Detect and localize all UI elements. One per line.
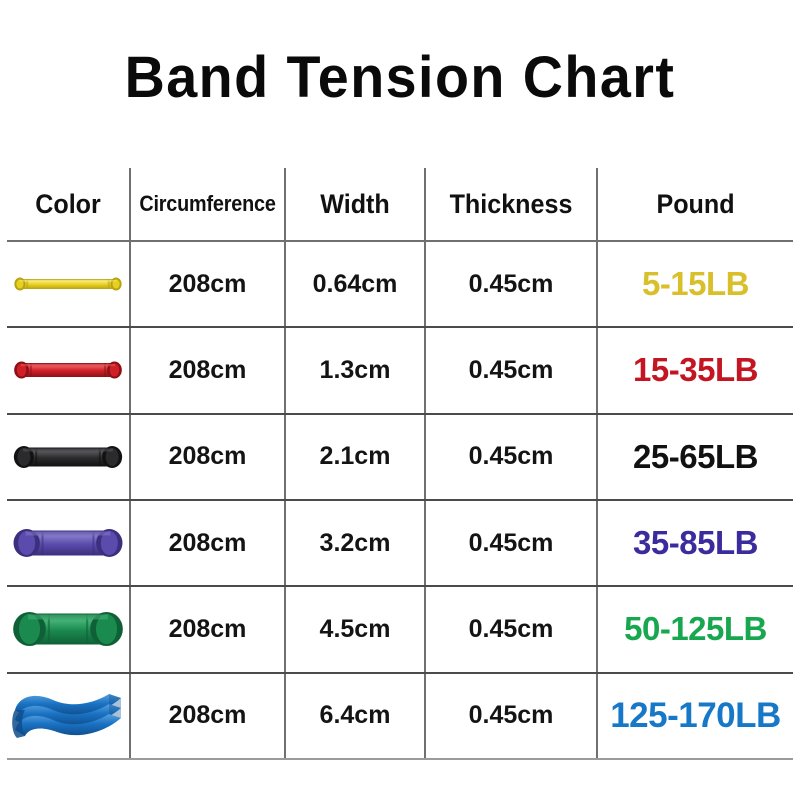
table-row: 208cm 0.64cm 0.45cm 5-15LB [7,241,793,327]
width-value: 0.64cm [286,270,424,299]
width-value: 3.2cm [286,529,424,558]
pound-value: 15-35LB [598,351,793,389]
band-image-wrapper [7,415,129,499]
thickness-cell: 0.45cm [425,414,597,500]
width-value: 4.5cm [286,615,424,644]
band-image-wrapper [7,242,129,326]
circumference-value: 208cm [131,270,284,299]
pound-cell: 35-85LB [597,500,793,586]
thickness-value: 0.45cm [426,356,596,385]
circumference-cell: 208cm [130,414,285,500]
pound-value: 50-125LB [598,610,793,648]
table-row: 208cm 3.2cm 0.45cm 35-85LB [7,500,793,586]
pound-cell: 5-15LB [597,241,793,327]
band-color-cell-purple [7,500,130,586]
pound-value: 35-85LB [598,524,793,562]
table-header: Color Circumference Width Thickness Poun… [7,168,793,241]
column-header-circumference-label: Circumference [139,191,277,217]
thickness-cell: 0.45cm [425,586,597,672]
circumference-value: 208cm [131,442,284,471]
band-image-wrapper [7,674,129,758]
column-header-pound-label: Pound [605,189,786,220]
table-row: 208cm 1.3cm 0.45cm 15-35LB [7,327,793,413]
table-body: 208cm 0.64cm 0.45cm 5-15LB [7,241,793,759]
width-cell: 4.5cm [285,586,425,672]
pound-value: 25-65LB [598,438,793,476]
band-color-cell-yellow [7,241,130,327]
page-title: Band Tension Chart [16,46,784,110]
band-spec-table: Color Circumference Width Thickness Poun… [7,168,793,760]
pound-value: 5-15LB [598,265,793,303]
band-image-wrapper [7,587,129,671]
width-cell: 0.64cm [285,241,425,327]
table-row: 208cm 6.4cm 0.45cm 125-170LB [7,673,793,759]
width-value: 2.1cm [286,442,424,471]
thickness-cell: 0.45cm [425,500,597,586]
band-color-cell-black [7,414,130,500]
pound-cell: 15-35LB [597,327,793,413]
band-image-red [9,334,127,406]
thickness-cell: 0.45cm [425,241,597,327]
table-row: 208cm 2.1cm 0.45cm 25-65LB [7,414,793,500]
band-color-cell-green [7,586,130,672]
thickness-value: 0.45cm [426,442,596,471]
column-header-thickness: Thickness [425,168,597,241]
pound-cell: 125-170LB [597,673,793,759]
circumference-value: 208cm [131,701,284,730]
pound-cell: 25-65LB [597,414,793,500]
width-value: 6.4cm [286,701,424,730]
band-image-green [9,593,127,665]
circumference-value: 208cm [131,356,284,385]
pound-cell: 50-125LB [597,586,793,672]
circumference-cell: 208cm [130,586,285,672]
thickness-value: 0.45cm [426,270,596,299]
width-cell: 3.2cm [285,500,425,586]
circumference-cell: 208cm [130,241,285,327]
pound-value: 125-170LB [598,696,793,736]
band-image-yellow [9,248,127,320]
column-header-color-label: Color [11,189,124,220]
thickness-value: 0.45cm [426,701,596,730]
band-tension-chart-page: Band Tension Chart Color Circumference W… [0,0,800,800]
width-cell: 1.3cm [285,327,425,413]
band-image-purple [9,507,127,579]
table-row: 208cm 4.5cm 0.45cm 50-125LB [7,586,793,672]
band-image-black [9,421,127,493]
column-header-width-label: Width [291,189,419,220]
column-header-pound: Pound [597,168,793,241]
band-color-cell-red [7,327,130,413]
width-cell: 2.1cm [285,414,425,500]
thickness-cell: 0.45cm [425,673,597,759]
column-header-color: Color [7,168,130,241]
band-image-blue [9,680,127,752]
column-header-circumference: Circumference [130,168,285,241]
thickness-cell: 0.45cm [425,327,597,413]
thickness-value: 0.45cm [426,529,596,558]
column-header-width: Width [285,168,425,241]
circumference-cell: 208cm [130,327,285,413]
circumference-value: 208cm [131,615,284,644]
circumference-cell: 208cm [130,673,285,759]
table-header-row: Color Circumference Width Thickness Poun… [7,168,793,241]
column-header-thickness-label: Thickness [432,189,590,220]
band-color-cell-blue [7,673,130,759]
circumference-cell: 208cm [130,500,285,586]
circumference-value: 208cm [131,529,284,558]
width-cell: 6.4cm [285,673,425,759]
band-image-wrapper [7,328,129,412]
thickness-value: 0.45cm [426,615,596,644]
width-value: 1.3cm [286,356,424,385]
band-image-wrapper [7,501,129,585]
